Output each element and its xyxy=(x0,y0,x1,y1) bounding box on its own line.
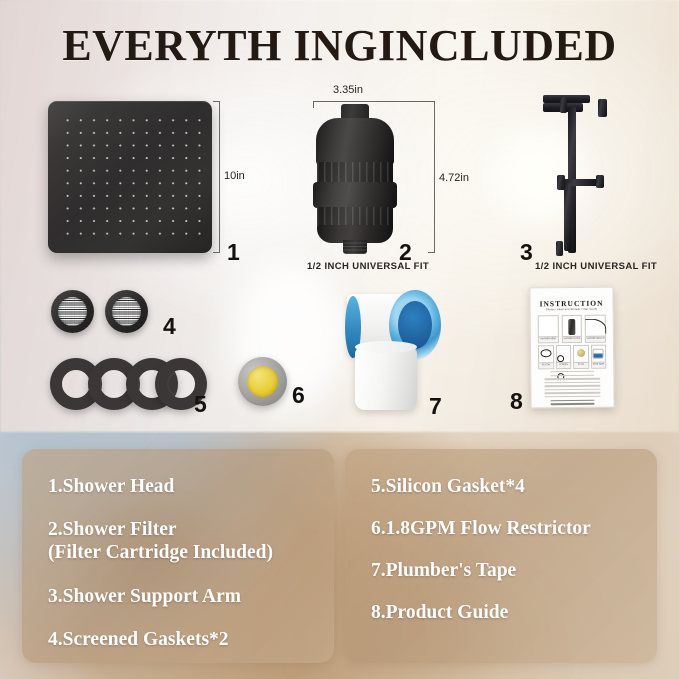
instruction-cell-caption: FLOW RESTRICTOR xyxy=(574,362,588,368)
filter-upper-body xyxy=(316,118,394,166)
shower-head-dim-bracket-top xyxy=(213,101,220,102)
filter-dim-top-tick-l xyxy=(313,101,314,108)
list-item: 3.Shower Support Arm xyxy=(48,585,334,608)
instruction-cell-arm: SHOWER ARM KIT xyxy=(585,315,606,343)
product-number-7: 7 xyxy=(429,395,442,418)
list-item-label: 5.Silicon Gasket*4 xyxy=(371,476,525,497)
instruction-cell-caption: PTFE TAPE xyxy=(592,362,606,368)
shower-filter-image xyxy=(313,104,397,250)
list-item-label: 2.Shower Filter xyxy=(48,519,177,540)
tape-icon xyxy=(593,349,604,359)
instruction-cell-flow-restrictor: FLOW RESTRICTOR xyxy=(573,345,589,369)
list-item: 6.1.8GPM Flow Restrictor xyxy=(371,517,657,540)
screened-gasket-1 xyxy=(51,290,94,333)
instruction-grid-row-2: SILICON GASKET SCREEN GASKET FLOW RESTRI… xyxy=(538,345,606,370)
arm-top-left-post xyxy=(560,97,567,113)
instruction-cell-shower-head: SHOWER HEAD xyxy=(538,315,559,343)
shower-head-dimension-label: 10in xyxy=(224,170,245,182)
arm-top-right-elbow xyxy=(598,99,607,117)
list-item-label: 1.Shower Head xyxy=(48,476,174,497)
filter-icon xyxy=(568,319,575,335)
filter-dim-right-line xyxy=(434,101,435,253)
list-item: 1.Shower Head xyxy=(48,475,334,498)
plumbers-tape-image xyxy=(345,292,441,410)
product-number-6: 6 xyxy=(292,384,305,407)
arm-curve-icon xyxy=(585,319,606,334)
tape-roll-front xyxy=(355,346,417,410)
product-number-8: 8 xyxy=(510,390,523,413)
filter-dim-top-line xyxy=(313,101,435,102)
instruction-cell-filter: SHOWER FILTER xyxy=(561,315,582,343)
instruction-cell-ptfe-tape: PTFE TAPE xyxy=(590,345,606,369)
instruction-cell-caption: SCREEN GASKET xyxy=(557,362,571,368)
instruction-subheading: Shower Head and Shower Filter Guide xyxy=(531,308,613,312)
shower-head-image xyxy=(48,101,212,253)
filter-ribs-upper xyxy=(317,162,393,184)
arm-fit-label: 1/2 INCH UNIVERSAL FIT xyxy=(535,261,657,272)
list-item-label: 8.Product Guide xyxy=(371,602,508,623)
flow-restrictor-image xyxy=(238,357,287,406)
list-item: 7.Plumber's Tape xyxy=(371,559,657,582)
shower-head-nozzles xyxy=(58,111,202,243)
filter-height-label: 4.72in xyxy=(439,172,469,184)
filter-dim-right-tick-b xyxy=(428,252,435,253)
parts-list-left-panel: 1.Shower Head 2.Shower Filter (Filter Ca… xyxy=(22,449,334,663)
instruction-cell-caption: SHOWER ARM KIT xyxy=(586,336,605,342)
product-number-3: 3 xyxy=(520,241,533,264)
arm-secondary-rod xyxy=(564,183,571,251)
product-number-1: 1 xyxy=(227,241,240,264)
ring-icon xyxy=(540,349,551,357)
list-item: 8.Product Guide xyxy=(371,601,657,624)
list-item-sublabel: (Filter Cartridge Included) xyxy=(48,541,334,564)
product-number-4: 4 xyxy=(163,315,176,338)
list-item: 2.Shower Filter (Filter Cartridge Includ… xyxy=(48,518,334,564)
instruction-grid-row-1: SHOWER HEAD SHOWER FILTER SHOWER ARM KIT xyxy=(538,315,606,344)
parts-list-right-panel: 5.Silicon Gasket*4 6.1.8GPM Flow Restric… xyxy=(345,449,657,663)
instruction-body-text xyxy=(540,371,604,409)
instruction-cell-caption: SHOWER FILTER xyxy=(563,336,582,342)
instruction-cell-caption: SHOWER HEAD xyxy=(539,336,558,342)
shower-head-dim-bracket-bot xyxy=(213,252,220,253)
list-item: 4.Screened Gaskets*2 xyxy=(48,628,334,651)
instruction-cell-caption: SILICON GASKET xyxy=(539,362,553,368)
list-item-label: 7.Plumber's Tape xyxy=(371,560,516,581)
filter-center-band xyxy=(313,182,397,208)
product-number-5: 5 xyxy=(194,393,207,416)
list-item: 5.Silicon Gasket*4 xyxy=(371,475,657,498)
instruction-cell-screen-gasket: SCREEN GASKET xyxy=(555,345,571,369)
filter-width-label: 3.35in xyxy=(333,84,363,96)
list-item-label: 3.Shower Support Arm xyxy=(48,586,241,607)
shower-head-dim-bracket-vert xyxy=(219,101,220,253)
product-infographic: EVERYTH INGINCLUDED 10in 1 3.35in 4.72in… xyxy=(0,0,679,679)
list-item-label: 4.Screened Gaskets*2 xyxy=(48,629,229,650)
arm-slider-right-knob xyxy=(596,175,604,188)
page-title: EVERYTH INGINCLUDED xyxy=(0,20,679,71)
list-item-label: 6.1.8GPM Flow Restrictor xyxy=(371,518,591,539)
restrictor-icon xyxy=(577,349,585,357)
product-guide-image: INSTRUCTION Shower Head and Shower Filte… xyxy=(529,287,614,409)
filter-fit-label: 1/2 INCH UNIVERSAL FIT xyxy=(307,261,429,272)
double-ring-icon xyxy=(557,349,569,355)
screened-gasket-2 xyxy=(105,290,148,333)
arm-base-left-post xyxy=(556,241,563,256)
instruction-cell-silicon-gasket: SILICON GASKET xyxy=(538,345,554,369)
filter-bottom-outlet xyxy=(343,240,367,254)
shower-support-arm-image xyxy=(543,95,609,255)
